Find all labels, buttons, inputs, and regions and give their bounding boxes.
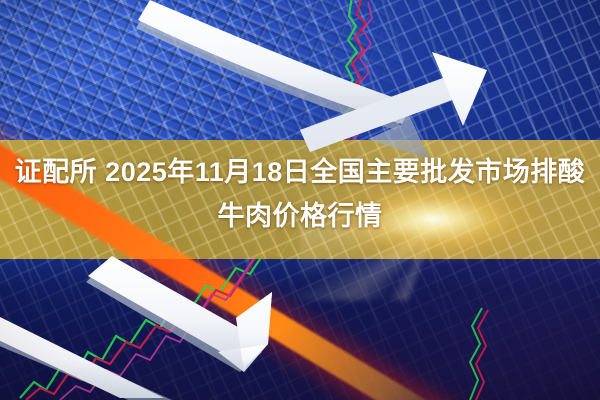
news-banner-image: 证配所 2025年11月18日全国主要批发市场排酸 牛肉价格行情 [0,0,600,400]
title-line-2: 牛肉价格行情 [0,194,600,238]
title-line-1: 证配所 2025年11月18日全国主要批发市场排酸 [15,157,586,187]
page-title: 证配所 2025年11月18日全国主要批发市场排酸 牛肉价格行情 [0,150,600,238]
